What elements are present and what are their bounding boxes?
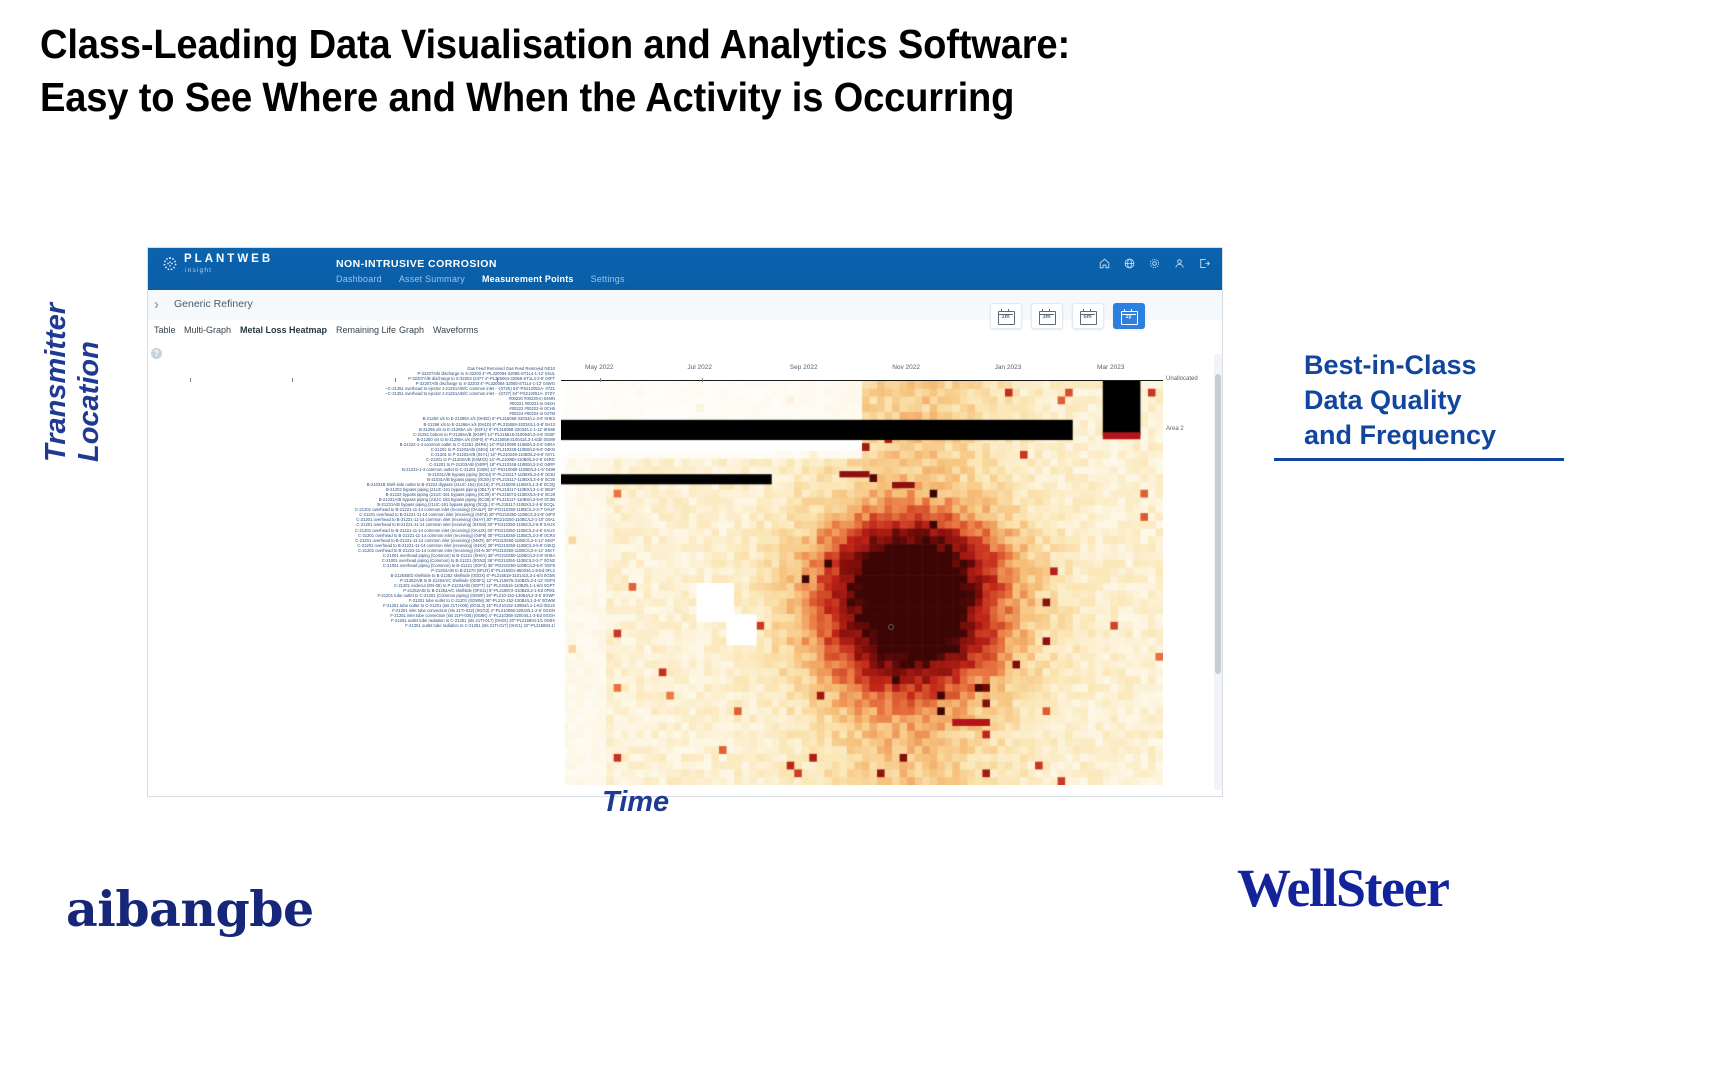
annotation-y-line2: Location	[73, 341, 105, 462]
chevron-right-icon[interactable]: ›	[154, 296, 159, 313]
tab-graph[interactable]: Graph	[399, 325, 424, 335]
mouse-cursor-indicator	[888, 624, 894, 630]
callout-line2: Data Quality	[1304, 385, 1462, 415]
plantweb-asterisk-icon	[162, 256, 178, 272]
heatmap-x-tick	[292, 378, 293, 382]
annotation-y-line1: Transmitter	[40, 303, 72, 462]
calendar-icon: 3m	[1039, 309, 1055, 324]
page-title-line1: Class-Leading Data Visualisation and Ana…	[40, 21, 1070, 67]
nav-item-settings[interactable]: Settings	[591, 274, 625, 284]
metal-loss-heatmap[interactable]: Gas Feed Removed Gas Feed Removed 04/10P…	[148, 354, 1222, 790]
heatmap-x-tick	[190, 378, 191, 382]
calendar-icon: 1m	[998, 309, 1014, 324]
heatmap-vertical-scrollbar[interactable]	[1214, 354, 1222, 790]
heatmap-x-tick-label: Jul 2022	[687, 364, 712, 371]
callout-underline	[1274, 458, 1564, 461]
nav-item-asset-summary[interactable]: Asset Summary	[399, 274, 465, 284]
plantweb-logo: PLANTWEB insight	[162, 254, 273, 274]
time-range-button-group: 1m 3m 6m 1y	[990, 303, 1145, 329]
header-icon-group	[1099, 258, 1210, 269]
heatmap-plot-area[interactable]	[561, 380, 1163, 785]
user-icon[interactable]	[1174, 258, 1185, 269]
tab-multi-graph[interactable]: Multi-Graph	[184, 325, 231, 335]
heatmap-x-tick	[702, 378, 703, 382]
callout-line3: and Frequency	[1304, 420, 1496, 450]
heatmap-x-tick-label: Nov 2022	[892, 364, 920, 371]
brand-name: PLANTWEB	[184, 254, 273, 266]
nav-item-dashboard[interactable]: Dashboard	[336, 274, 382, 284]
brand-subtitle: insight	[185, 268, 273, 275]
heatmap-row-label: F-21251 outlet tube radiation to C-21251…	[148, 623, 558, 628]
app-header-bar: PLANTWEB insight NON-INTRUSIVE CORROSION…	[148, 248, 1222, 290]
page-title: Class-Leading Data Visualisation and Ana…	[40, 18, 1547, 125]
heatmap-x-tick-label: Mar 2023	[1097, 364, 1124, 371]
tab-table[interactable]: Table	[154, 325, 176, 335]
gear-icon[interactable]	[1149, 258, 1160, 269]
plantweb-app-screenshot: PLANTWEB insight NON-INTRUSIVE CORROSION…	[148, 248, 1222, 796]
app-name: NON-INTRUSIVE CORROSION	[336, 258, 497, 270]
globe-icon[interactable]	[1124, 258, 1135, 269]
logo-aibangbe: aibangbe	[66, 880, 314, 938]
range-button-1y[interactable]: 1y	[1113, 303, 1145, 329]
heatmap-x-tick-label: Sep 2022	[790, 364, 818, 371]
calendar-icon: 1y	[1121, 309, 1137, 324]
tab-metal-loss-heatmap[interactable]: Metal Loss Heatmap	[240, 325, 327, 335]
logo-wellsteer-part1: Well	[1237, 858, 1336, 918]
range-button-3m[interactable]: 3m	[1031, 303, 1063, 329]
callout-line1: Best-in-Class	[1304, 350, 1477, 380]
heatmap-row-labels: Gas Feed Removed Gas Feed Removed 04/10P…	[148, 366, 558, 786]
calendar-icon: 6m	[1080, 309, 1096, 324]
heatmap-x-axis-ticks: May 2022Jul 2022Sep 2022Nov 2022Jan 2023…	[561, 364, 1163, 378]
tab-remaining-life[interactable]: Remaining Life	[336, 325, 396, 335]
heatmap-x-tick-label: May 2022	[585, 364, 614, 371]
home-icon[interactable]	[1099, 258, 1110, 269]
annotation-y-axis-label: Transmitter Location	[40, 242, 107, 462]
logo-wellsteer-part2: Steer	[1336, 858, 1448, 918]
nav-item-measurement-points[interactable]: Measurement Points	[482, 274, 574, 284]
logo-wellsteer: WellSteer	[1237, 857, 1448, 919]
heatmap-x-tick	[395, 378, 396, 382]
scrollbar-thumb[interactable]	[1215, 374, 1221, 674]
heatmap-x-tick	[497, 378, 498, 382]
primary-nav: Dashboard Asset Summary Measurement Poin…	[336, 274, 625, 284]
heatmap-canvas[interactable]	[561, 381, 1163, 785]
heatmap-x-tick-label: Jan 2023	[995, 364, 1022, 371]
range-button-6m[interactable]: 6m	[1072, 303, 1104, 329]
annotation-x-axis-label: Time	[602, 786, 669, 819]
callout-text: Best-in-Class Data Quality and Frequency	[1304, 348, 1604, 453]
breadcrumb[interactable]: Generic Refinery	[174, 298, 253, 310]
page-title-line2: Easy to See Where and When the Activity …	[40, 71, 1547, 124]
range-button-1m[interactable]: 1m	[990, 303, 1022, 329]
logout-icon[interactable]	[1199, 258, 1210, 269]
tab-waveforms[interactable]: Waveforms	[433, 325, 478, 335]
heatmap-x-tick	[600, 378, 601, 382]
